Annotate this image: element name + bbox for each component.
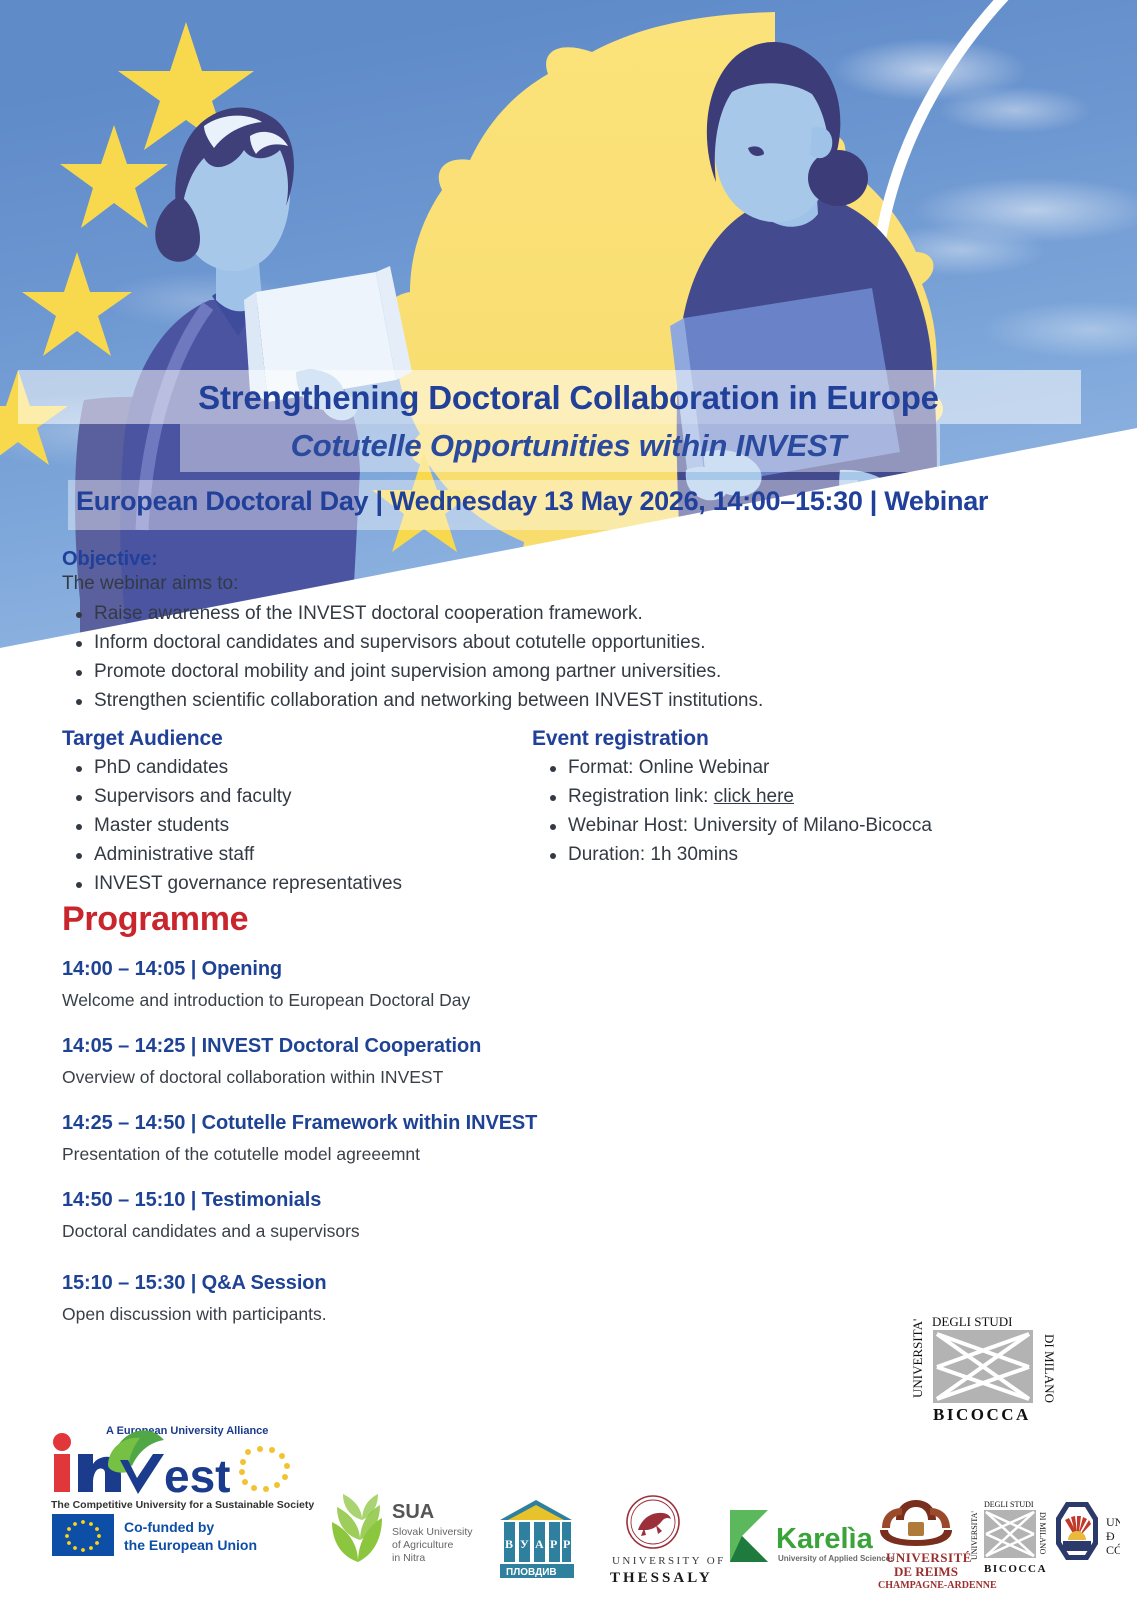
svg-text:А: А — [535, 1537, 544, 1551]
svg-text:UNIVERSITA': UNIVERSITA' — [910, 1319, 925, 1398]
event-registration-heading: Event registration — [532, 727, 1072, 751]
programme-item-heading: 15:10 – 15:30 | Q&A Session — [62, 1272, 962, 1295]
list-item: Strengthen scientific collaboration and … — [62, 687, 1062, 716]
two-column-section: Target Audience PhD candidates Superviso… — [62, 727, 1082, 898]
svg-text:DE REIMS: DE REIMS — [894, 1564, 958, 1579]
list-item: Registration link: click here — [532, 783, 1072, 812]
programme-item-description: Overview of doctoral collaboration withi… — [62, 1067, 962, 1088]
target-audience-section: Target Audience PhD candidates Superviso… — [62, 727, 532, 898]
partner-logo-universite-de-reims: UNIVERSITÉ DE REIMS CHAMPAGNE-ARDENNE — [878, 1500, 997, 1590]
list-item: Format: Online Webinar — [532, 754, 1072, 783]
svg-text:ПЛОВДИВ: ПЛОВДИВ — [506, 1567, 557, 1578]
svg-text:DI MILANO: DI MILANO — [1042, 1334, 1055, 1403]
event-registration-section: Event registration Format: Online Webina… — [532, 727, 1072, 898]
programme-list: 14:00 – 14:05 | Opening Welcome and intr… — [62, 958, 962, 1325]
svg-text:UNIVERSITA': UNIVERSITA' — [970, 1511, 979, 1560]
svg-text:Karelìa: Karelìa — [776, 1523, 874, 1555]
svg-text:У: У — [520, 1537, 529, 1551]
svg-text:UNIVERSITÉ: UNIVERSITÉ — [886, 1550, 972, 1565]
target-audience-heading: Target Audience — [62, 727, 532, 751]
svg-text:В: В — [505, 1537, 513, 1551]
svg-text:THESSALY: THESSALY — [610, 1570, 713, 1586]
svg-text:UNIVERSITY OF: UNIVERSITY OF — [612, 1555, 726, 1567]
objective-intro: The webinar aims to: — [62, 571, 1062, 598]
poster-root: Strengthening Doctoral Collaboration in … — [0, 0, 1137, 1607]
svg-text:DEGLI STUDI: DEGLI STUDI — [984, 1500, 1034, 1509]
svg-text:Slovak University: Slovak University — [392, 1526, 473, 1538]
svg-text:BICOCCA: BICOCCA — [933, 1405, 1031, 1424]
programme-item-description: Welcome and introduction to European Doc… — [62, 990, 962, 1011]
registration-format-label: Format: Online Webinar — [568, 757, 769, 778]
svg-text:CÓRDOBA: CÓRDOBA — [1106, 1543, 1120, 1557]
svg-text:SUA: SUA — [392, 1501, 434, 1523]
partner-logo-university-of-thessaly: UNIVERSITY OF THESSALY — [610, 1496, 726, 1586]
target-audience-list: PhD candidates Supervisors and faculty M… — [62, 754, 532, 898]
svg-text:UNIVERSIDAD: UNIVERSIDAD — [1106, 1515, 1120, 1529]
list-item: Supervisors and faculty — [62, 783, 532, 812]
partner-logo-milano-bicocca: UNIVERSITA' DEGLI STUDI DI MILANO BICOCC… — [970, 1500, 1047, 1575]
eu-cofunded-logo: Co-funded by the European Union — [52, 1512, 272, 1558]
programme-item-heading: 14:05 – 14:25 | INVEST Doctoral Cooperat… — [62, 1035, 962, 1058]
poster-content: Objective: The webinar aims to: Raise aw… — [0, 0, 1137, 1607]
svg-text:The Competitive University for: The Competitive University for a Sustain… — [51, 1499, 314, 1510]
programme-item-heading: 14:50 – 15:10 | Testimonials — [62, 1189, 962, 1212]
partner-logo-karelia-uas: Karelìa University of Applied Sciences — [730, 1510, 895, 1563]
partner-logos-row: SUA Slovak University of Agriculture in … — [330, 1490, 1120, 1590]
programme-item: 14:50 – 15:10 | Testimonials Doctoral ca… — [62, 1189, 962, 1242]
list-item: Webinar Host: University of Milano-Bicoc… — [532, 812, 1072, 841]
svg-text:Р: Р — [563, 1537, 570, 1551]
programme-title: Programme — [62, 900, 248, 939]
list-item: Inform doctoral candidates and superviso… — [62, 629, 1062, 658]
event-registration-list: Format: Online Webinar Registration link… — [532, 754, 1072, 870]
programme-item: 14:00 – 14:05 | Opening Welcome and intr… — [62, 958, 962, 1011]
list-item: Promote doctoral mobility and joint supe… — [62, 658, 1062, 687]
svg-text:BICOCCA: BICOCCA — [984, 1563, 1047, 1575]
programme-item-heading: 14:25 – 14:50 | Cotutelle Framework with… — [62, 1112, 962, 1135]
svg-text:Р: Р — [550, 1537, 557, 1551]
list-item: Raise awareness of the INVEST doctoral c… — [62, 600, 1062, 629]
list-item: Duration: 1h 30mins — [532, 841, 1072, 870]
list-item: PhD candidates — [62, 754, 532, 783]
svg-text:of Agriculture: of Agriculture — [392, 1539, 453, 1551]
duration-label: Duration: 1h 30mins — [568, 844, 738, 865]
programme-item-description: Doctoral candidates and a supervisors — [62, 1221, 962, 1242]
milano-bicocca-logo: UNIVERSITA' DEGLI STUDI DI MILANO BICOCC… — [905, 1312, 1055, 1424]
svg-text:University of Applied Sciences: University of Applied Sciences — [778, 1554, 895, 1563]
svg-text:est: est — [164, 1450, 230, 1502]
svg-text:DI MILANO: DI MILANO — [1038, 1512, 1047, 1555]
programme-item: 14:25 – 14:50 | Cotutelle Framework with… — [62, 1112, 962, 1165]
list-item: Master students — [62, 812, 532, 841]
svg-text:Ð: Ð — [1106, 1529, 1115, 1543]
objective-section: Objective: The webinar aims to: Raise aw… — [62, 548, 1062, 715]
list-item: Administrative staff — [62, 841, 532, 870]
invest-alliance-logo: A European University Alliance est The C… — [46, 1420, 321, 1510]
programme-item: 15:10 – 15:30 | Q&A Session Open discuss… — [62, 1272, 962, 1325]
list-item: INVEST governance representatives — [62, 870, 532, 899]
programme-item-heading: 14:00 – 14:05 | Opening — [62, 958, 962, 981]
partner-logo-universidad-de-cordoba: UNIVERSIDAD Ð CÓRDOBA — [1056, 1502, 1120, 1560]
programme-item-description: Presentation of the cotutelle model agre… — [62, 1144, 962, 1165]
svg-text:the European Union: the European Union — [124, 1537, 257, 1553]
objective-heading: Objective: — [62, 548, 1062, 571]
svg-text:Co-funded by: Co-funded by — [124, 1519, 214, 1535]
svg-text:DEGLI STUDI: DEGLI STUDI — [932, 1314, 1013, 1329]
programme-item-description: Open discussion with participants. — [62, 1304, 962, 1325]
registration-link[interactable]: click here — [714, 786, 794, 807]
svg-text:in Nitra: in Nitra — [392, 1552, 425, 1564]
svg-text:CHAMPAGNE-ARDENNE: CHAMPAGNE-ARDENNE — [878, 1580, 997, 1590]
programme-item: 14:05 – 14:25 | INVEST Doctoral Cooperat… — [62, 1035, 962, 1088]
objective-bullet-list: Raise awareness of the INVEST doctoral c… — [62, 600, 1062, 716]
webinar-host-label: Webinar Host: University of Milano-Bicoc… — [568, 815, 932, 836]
registration-link-label: Registration link: — [568, 786, 714, 807]
partner-logo-sua-nitra: SUA Slovak University of Agriculture in … — [332, 1494, 473, 1564]
partner-logo-agricultural-university-plovdiv: ВУАРР ПЛОВДИВ — [500, 1500, 574, 1578]
